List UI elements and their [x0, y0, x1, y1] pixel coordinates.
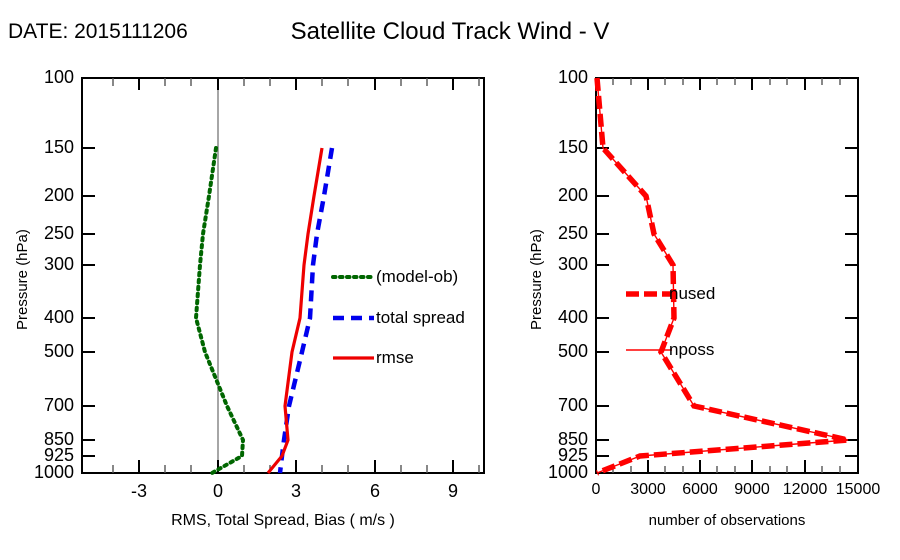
left-ytick-700: 700	[8, 395, 74, 416]
right-ytick-250: 250	[522, 223, 588, 244]
legend-label-nposs: nposs	[669, 340, 714, 360]
legend-label-total-spread: total spread	[376, 308, 465, 328]
right-plot-panel	[596, 78, 858, 473]
chart-page: DATE: 2015111206 Satellite Cloud Track W…	[0, 0, 900, 560]
left-ytick-1000: 1000	[8, 462, 74, 483]
right-ytick-400: 400	[522, 307, 588, 328]
right-ytick-300: 300	[522, 254, 588, 275]
legend-label-model-ob: (model-ob)	[376, 267, 458, 287]
series-nused	[597, 78, 848, 473]
left-ytick-250: 250	[8, 223, 74, 244]
right-ytick-200: 200	[522, 185, 588, 206]
left-xtick-0: 0	[188, 481, 248, 502]
left-ytick-200: 200	[8, 185, 74, 206]
legend-label-rmse: rmse	[376, 348, 414, 368]
left-xtick-neg3: -3	[109, 481, 169, 502]
series-model-ob	[196, 148, 243, 473]
left-ytick-300: 300	[8, 254, 74, 275]
left-ytick-500: 500	[8, 341, 74, 362]
series-rmse	[268, 148, 322, 473]
left-xtick-6: 6	[345, 481, 405, 502]
left-ytick-150: 150	[8, 137, 74, 158]
left-xtick-9: 9	[423, 481, 483, 502]
series-nposs	[597, 78, 848, 473]
right-ytick-150: 150	[522, 137, 588, 158]
right-ytick-500: 500	[522, 341, 588, 362]
left-ytick-100: 100	[8, 67, 74, 88]
right-ytick-100: 100	[522, 67, 588, 88]
left-ytick-400: 400	[8, 307, 74, 328]
right-ytick-700: 700	[522, 395, 588, 416]
left-y-ticks	[82, 78, 95, 473]
legend-label-nused: nused	[669, 284, 715, 304]
right-ytick-1000: 1000	[522, 462, 588, 483]
right-xtick-15000: 15000	[819, 481, 897, 499]
left-xtick-3: 3	[266, 481, 326, 502]
